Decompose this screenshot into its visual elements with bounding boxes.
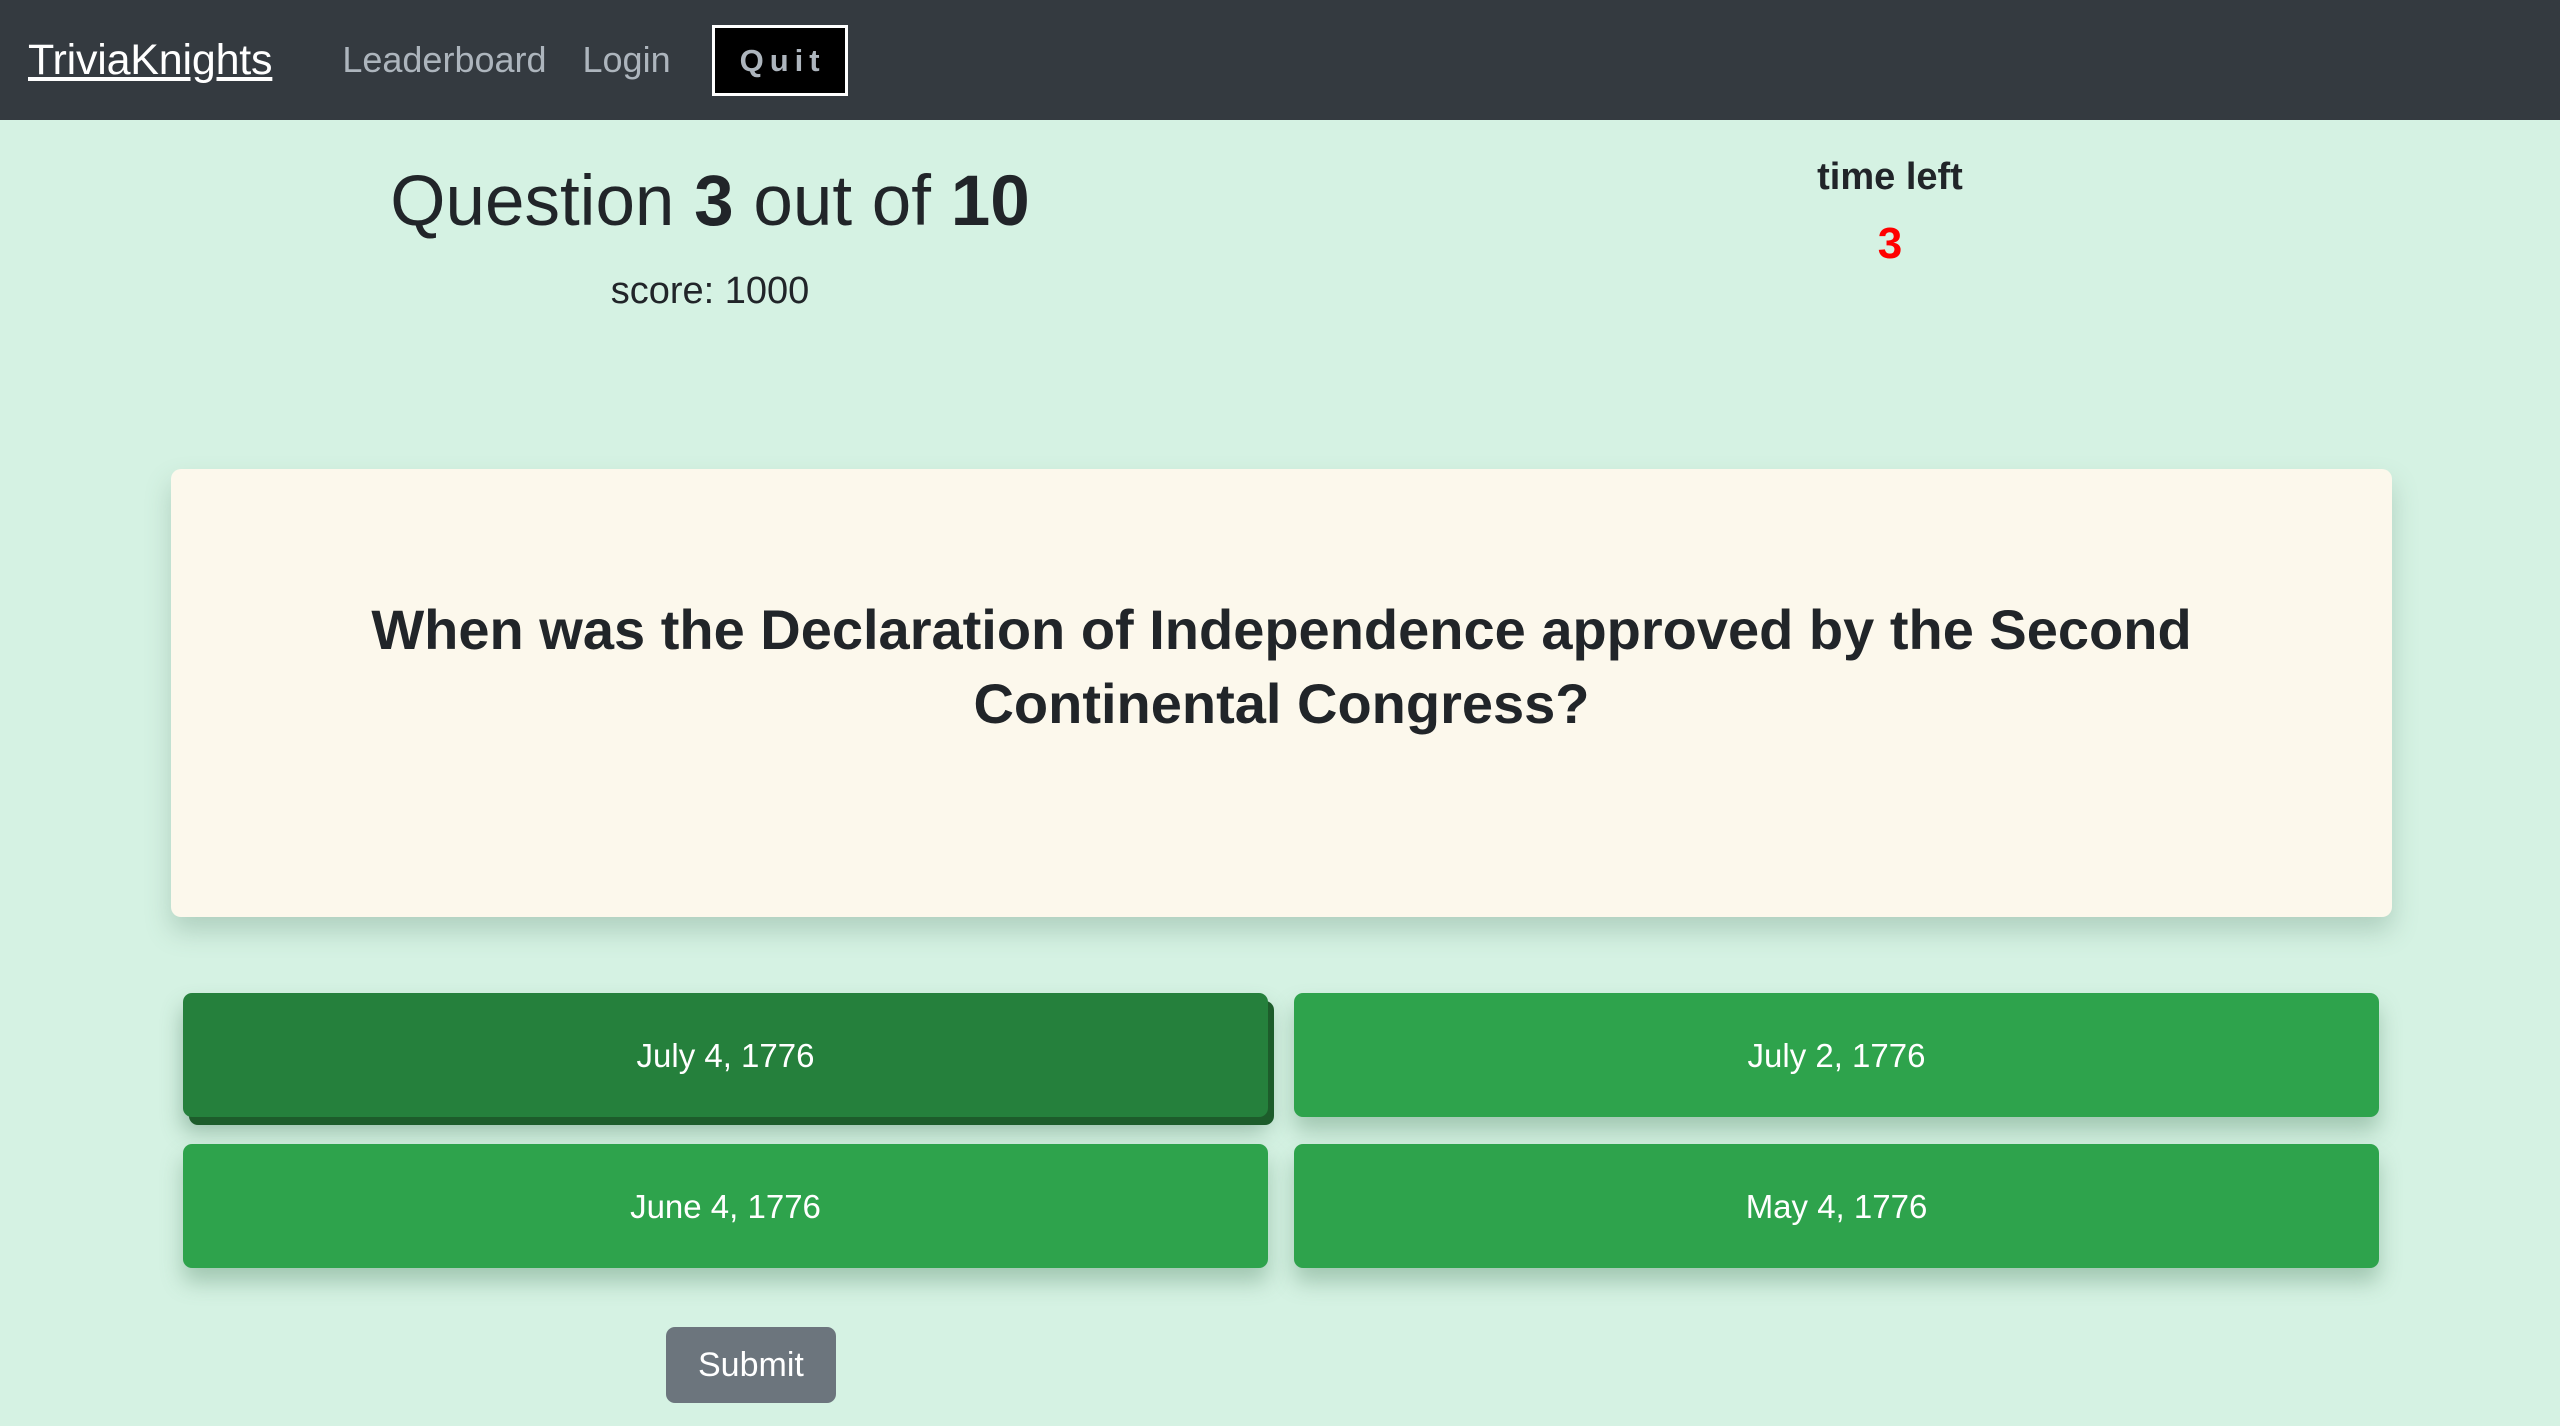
question-heading-prefix: Question [390, 162, 694, 241]
top-navbar: TriviaKnights Leaderboard Login Quit [0, 0, 2560, 120]
quit-button[interactable]: Quit [712, 25, 848, 96]
timer-value: 3 [1600, 222, 2180, 266]
answer-option-july-4-1776[interactable]: July 4, 1776 [183, 993, 1268, 1117]
answer-cell-4: May 4, 1776 [1283, 1144, 2379, 1268]
question-text: When was the Declaration of Independence… [287, 593, 2277, 741]
submit-row: Submit [183, 1327, 783, 1403]
timer-label: time left [1600, 158, 2180, 196]
nav-link-login[interactable]: Login [565, 42, 689, 78]
submit-button[interactable]: Submit [666, 1327, 836, 1403]
question-heading-middle: out of [734, 162, 951, 241]
navbar-links: Leaderboard Login Quit [324, 25, 847, 96]
navbar-brand[interactable]: TriviaKnights [28, 39, 272, 82]
answer-cell-1: July 4, 1776 [183, 993, 1283, 1117]
answer-option-may-4-1776[interactable]: May 4, 1776 [1294, 1144, 2379, 1268]
score-label: score: 1000 [0, 272, 1420, 310]
question-number: 3 [694, 162, 734, 241]
timer-block: time left 3 [1600, 158, 2180, 266]
question-total: 10 [951, 162, 1030, 241]
answer-option-june-4-1776[interactable]: June 4, 1776 [183, 1144, 1268, 1268]
answer-cell-3: June 4, 1776 [183, 1144, 1283, 1268]
answer-cell-2: July 2, 1776 [1283, 993, 2379, 1117]
question-progress-heading: Question 3 out of 10 [0, 166, 1420, 237]
nav-link-leaderboard[interactable]: Leaderboard [324, 42, 564, 78]
answer-option-july-2-1776[interactable]: July 2, 1776 [1294, 993, 2379, 1117]
quiz-header: Question 3 out of 10 score: 1000 time le… [0, 120, 2560, 310]
question-card: When was the Declaration of Independence… [171, 469, 2392, 917]
quiz-page: Question 3 out of 10 score: 1000 time le… [0, 120, 2560, 1426]
answer-options-grid: July 4, 1776 July 2, 1776 June 4, 1776 M… [183, 993, 2379, 1268]
